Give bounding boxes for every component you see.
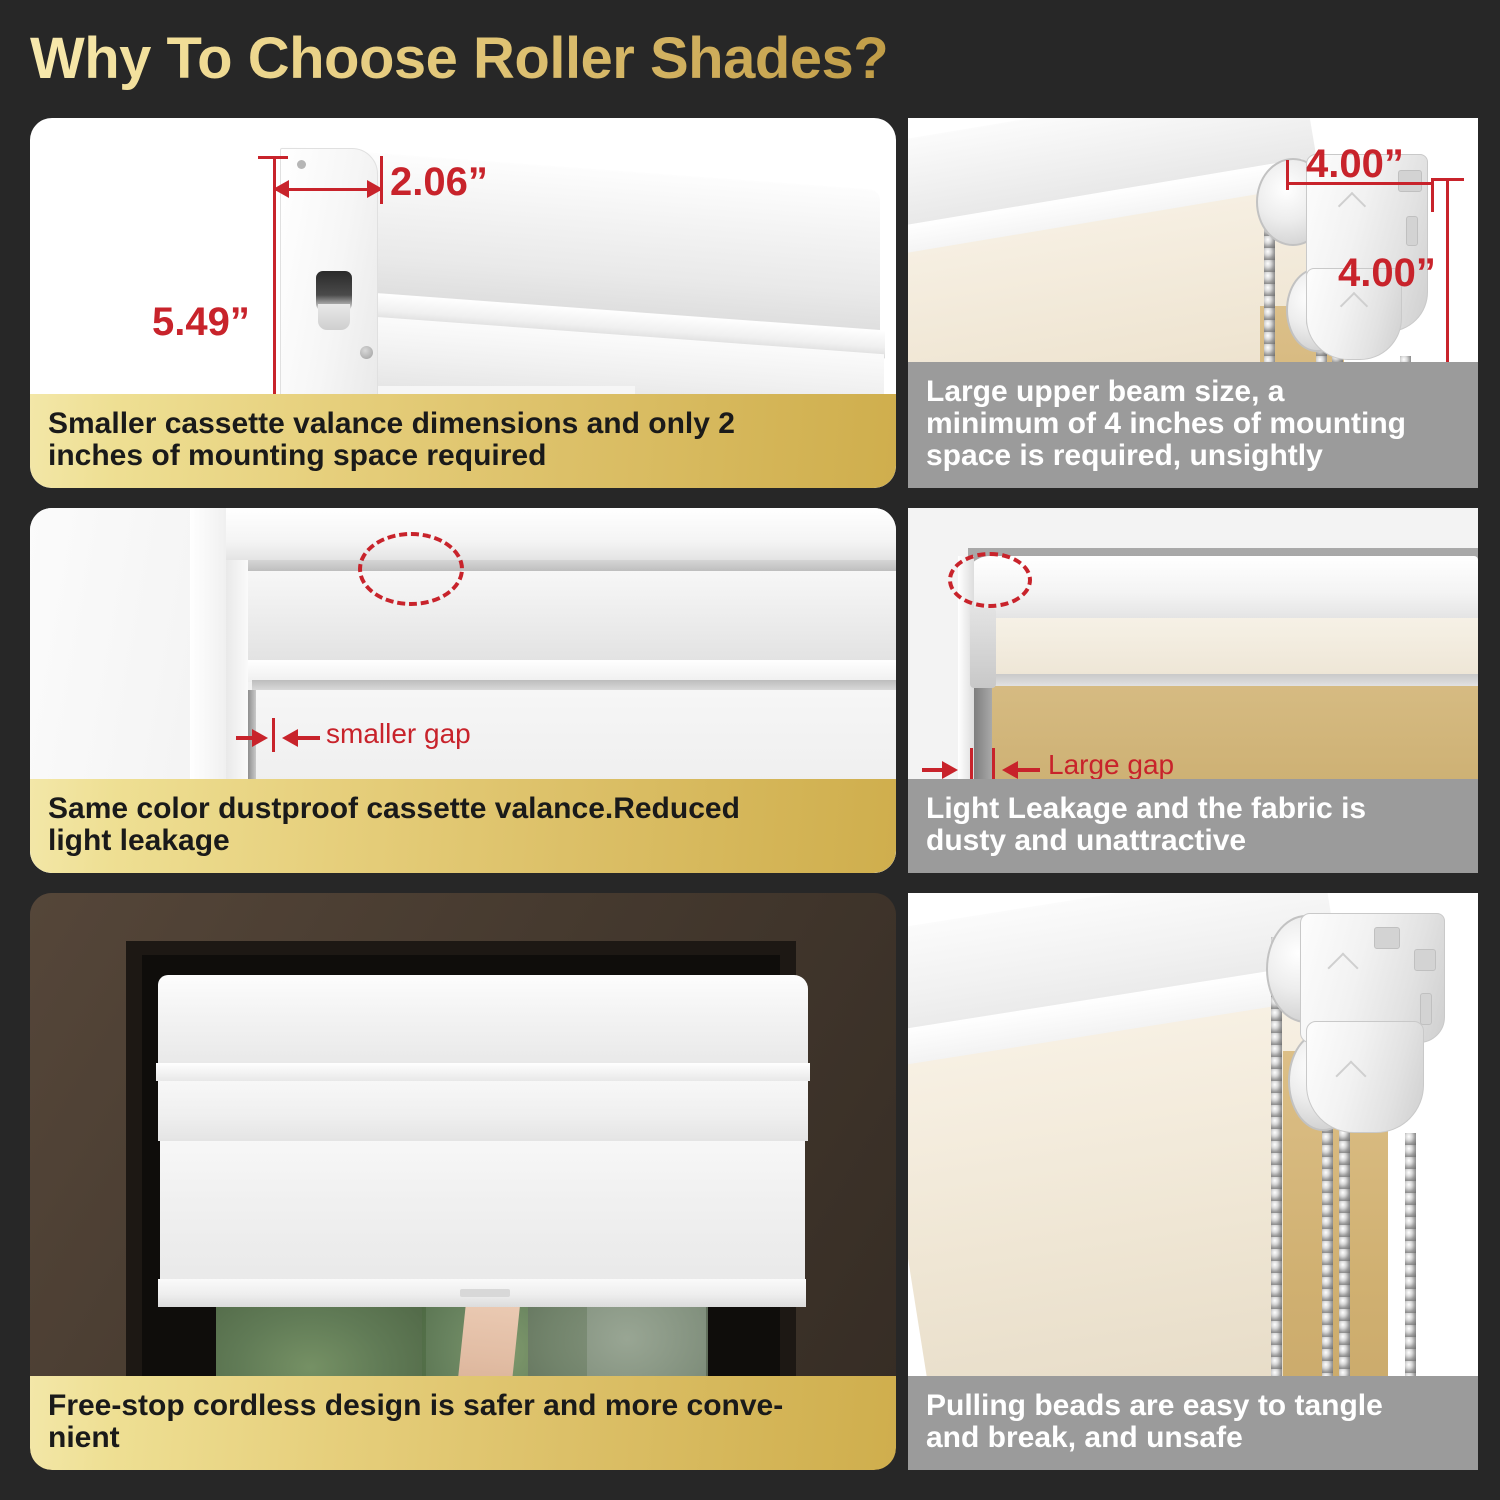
caption-mid-left: Same color dustproof cassette valance.Re… bbox=[30, 779, 896, 873]
gap-label: Large gap bbox=[1048, 749, 1174, 781]
gap-arrow-right bbox=[942, 761, 958, 779]
caption-mid-right: Light Leakage and the fabric is dusty an… bbox=[908, 779, 1478, 873]
dimension-label-width: 2.06” bbox=[390, 160, 488, 205]
panel-top-left: 2.06” 5.49” Smaller cassette valance dim… bbox=[30, 118, 896, 488]
caption-line: Light Leakage and the fabric is bbox=[926, 793, 1460, 825]
caption-line: space is required, unsightly bbox=[926, 440, 1460, 472]
exposed-head-rail bbox=[964, 556, 1478, 622]
caption-bottom-left: Free-stop cordless design is safer and m… bbox=[30, 1376, 896, 1470]
dimension-label-height: 4.00” bbox=[1338, 251, 1436, 296]
shade-fabric bbox=[160, 1139, 805, 1284]
caption-line: dusty and unattractive bbox=[926, 825, 1460, 857]
caption-line: minimum of 4 inches of mounting bbox=[926, 408, 1460, 440]
caption-line: Pulling beads are easy to tangle bbox=[926, 1390, 1460, 1422]
caption-line: Smaller cassette valance dimensions and … bbox=[48, 408, 878, 440]
caption-line: Large upper beam size, a bbox=[926, 376, 1460, 408]
dimension-label-height: 5.49” bbox=[152, 300, 250, 345]
dim-arrow-206-left bbox=[273, 180, 289, 198]
window-head-trim bbox=[226, 508, 896, 560]
panel-bottom-left: Free-stop cordless design is safer and m… bbox=[30, 893, 896, 1470]
dim-arrow-206-right bbox=[367, 180, 383, 198]
cap-pin-left bbox=[297, 160, 306, 169]
bracket-slot-corner bbox=[1414, 949, 1436, 971]
caption-top-left: Smaller cassette valance dimensions and … bbox=[30, 394, 896, 488]
dim-line-400-v bbox=[1446, 178, 1449, 372]
dim-tick-left-400h bbox=[1286, 160, 1289, 190]
dimension-label-width: 4.00” bbox=[1306, 142, 1404, 187]
gap-label: smaller gap bbox=[326, 718, 471, 750]
bracket-slot-mid bbox=[1406, 216, 1418, 246]
comparison-grid: 2.06” 5.49” Smaller cassette valance dim… bbox=[0, 0, 1500, 1500]
dim-tick-top-400v bbox=[1432, 178, 1464, 181]
bracket-slot-mid bbox=[1420, 993, 1432, 1025]
cap-screw-small bbox=[360, 346, 373, 359]
dim-tick-right-400h bbox=[1431, 178, 1434, 212]
gap-arrow-stem-right bbox=[1016, 768, 1040, 772]
cap-slot-base bbox=[318, 304, 350, 330]
panel-bottom-right: Pulling beads are easy to tangle and bre… bbox=[908, 893, 1478, 1470]
valance-lip bbox=[156, 1063, 810, 1081]
bracket-stub bbox=[970, 608, 996, 688]
highlight-ellipse-valance-seal bbox=[358, 532, 464, 606]
highlight-ellipse-gap bbox=[948, 552, 1032, 608]
caption-line: and break, and unsafe bbox=[926, 1422, 1460, 1454]
cassette-valance-face bbox=[248, 571, 896, 671]
dim-tick-top-549 bbox=[258, 156, 288, 159]
valance-bottom-lip bbox=[248, 660, 896, 682]
cream-fabric-upper bbox=[958, 618, 1478, 676]
gap-arrow-stem-right bbox=[296, 736, 320, 740]
caption-line: nient bbox=[48, 1422, 878, 1454]
gap-arrow-right bbox=[252, 729, 268, 747]
cassette-valance bbox=[158, 975, 808, 1073]
caption-top-right: Large upper beam size, a minimum of 4 in… bbox=[908, 362, 1478, 488]
panel-mid-left: smaller gap Same color dustproof cassett… bbox=[30, 508, 896, 873]
caption-line: light leakage bbox=[48, 825, 878, 857]
bottom-rail-grip bbox=[460, 1289, 510, 1297]
caption-line: Same color dustproof cassette valance.Re… bbox=[48, 793, 878, 825]
panel-mid-right: Large gap Light Leakage and the fabric i… bbox=[908, 508, 1478, 873]
caption-bottom-right: Pulling beads are easy to tangle and bre… bbox=[908, 1376, 1478, 1470]
caption-line: inches of mounting space required bbox=[48, 440, 878, 472]
panel-top-right: 4.00” 4.00” Large upper beam size, a min… bbox=[908, 118, 1478, 488]
gap-tick-left bbox=[272, 718, 275, 752]
bracket-slot-top bbox=[1374, 927, 1400, 949]
caption-line: Free-stop cordless design is safer and m… bbox=[48, 1390, 878, 1422]
roller-tube bbox=[158, 1079, 808, 1141]
